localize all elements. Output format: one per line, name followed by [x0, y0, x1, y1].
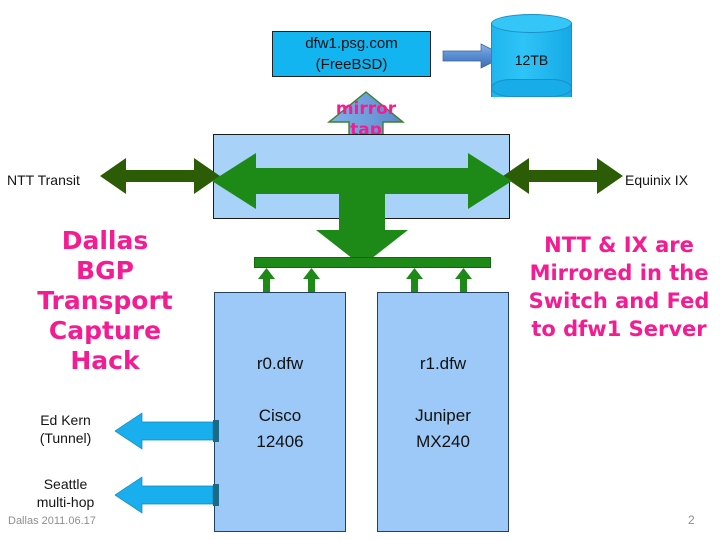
capture-server-box[interactable]: dfw1.psg.com (FreeBSD) [272, 31, 431, 77]
capture-server-os: (FreeBSD) [316, 54, 388, 75]
ntt-transit-label: NTT Transit [7, 171, 99, 189]
ed-kern-tunnel-label: Ed Kern (Tunnel) [18, 411, 113, 447]
footer-date-text: Dallas 2011.06.17 [8, 515, 96, 527]
page-number-text: 2 [688, 513, 695, 527]
router-r0-name: r0.dfw [257, 351, 303, 377]
seattle-multihop-label: Seattle multi-hop [18, 475, 113, 511]
slide-title-line-4: Capture [10, 316, 200, 346]
note-right: NTT & IX are Mirrored in the Switch and … [520, 231, 718, 343]
router-r0-vendor: Cisco [259, 403, 302, 429]
ed-kern-tunnel-arrow [115, 413, 219, 449]
slide-title-line-2: BGP [10, 256, 200, 286]
note-right-line-1: NTT & IX are [520, 231, 718, 259]
seattle-multihop-line-1: Seattle [18, 475, 113, 493]
equinix-ix-label: Equinix IX [625, 171, 720, 189]
note-right-line-3: Switch and Fed [520, 287, 718, 315]
ed-kern-tunnel-line-2: (Tunnel) [18, 429, 113, 447]
ed-kern-tunnel-line-1: Ed Kern [18, 411, 113, 429]
mirror-bus-bar [254, 257, 491, 268]
slide-title-line-5: Hack [10, 346, 200, 376]
ntt-transit-arrow [100, 157, 220, 195]
router-r0-model: 12406 [256, 429, 303, 455]
switch-mirror-path-arrow [212, 148, 512, 266]
note-right-line-4: to dfw1 Server [520, 315, 718, 343]
router-r1-name: r1.dfw [420, 351, 466, 377]
storage-capacity-label: 12TB [491, 14, 572, 106]
note-right-line-2: Mirrored in the [520, 259, 718, 287]
slide-canvas: dfw1.psg.com (FreeBSD) 12TB [0, 0, 720, 540]
router-r1-vendor: Juniper [415, 403, 471, 429]
slide-title-line-1: Dallas [10, 226, 200, 256]
router-r1-model: MX240 [416, 429, 470, 455]
router-box-r1[interactable]: r1.dfw Juniper MX240 [377, 292, 509, 532]
slide-title-left: Dallas BGP Transport Capture Hack [10, 226, 200, 376]
page-number: 2 [688, 513, 695, 527]
ntt-transit-label-text: NTT Transit [7, 172, 80, 188]
seattle-multihop-line-2: multi-hop [18, 493, 113, 511]
capture-server-hostname: dfw1.psg.com [305, 33, 398, 54]
mirror-tap-label-line1: mirror [329, 99, 403, 120]
router-box-r0[interactable]: r0.dfw Cisco 12406 [214, 292, 346, 532]
storage-cylinder[interactable]: 12TB [491, 14, 572, 106]
slide-title-line-3: Transport [10, 286, 200, 316]
equinix-ix-arrow [503, 157, 623, 195]
equinix-ix-label-text: Equinix IX [625, 172, 688, 188]
seattle-multihop-arrow [115, 477, 219, 513]
footer-date: Dallas 2011.06.17 [8, 515, 96, 527]
